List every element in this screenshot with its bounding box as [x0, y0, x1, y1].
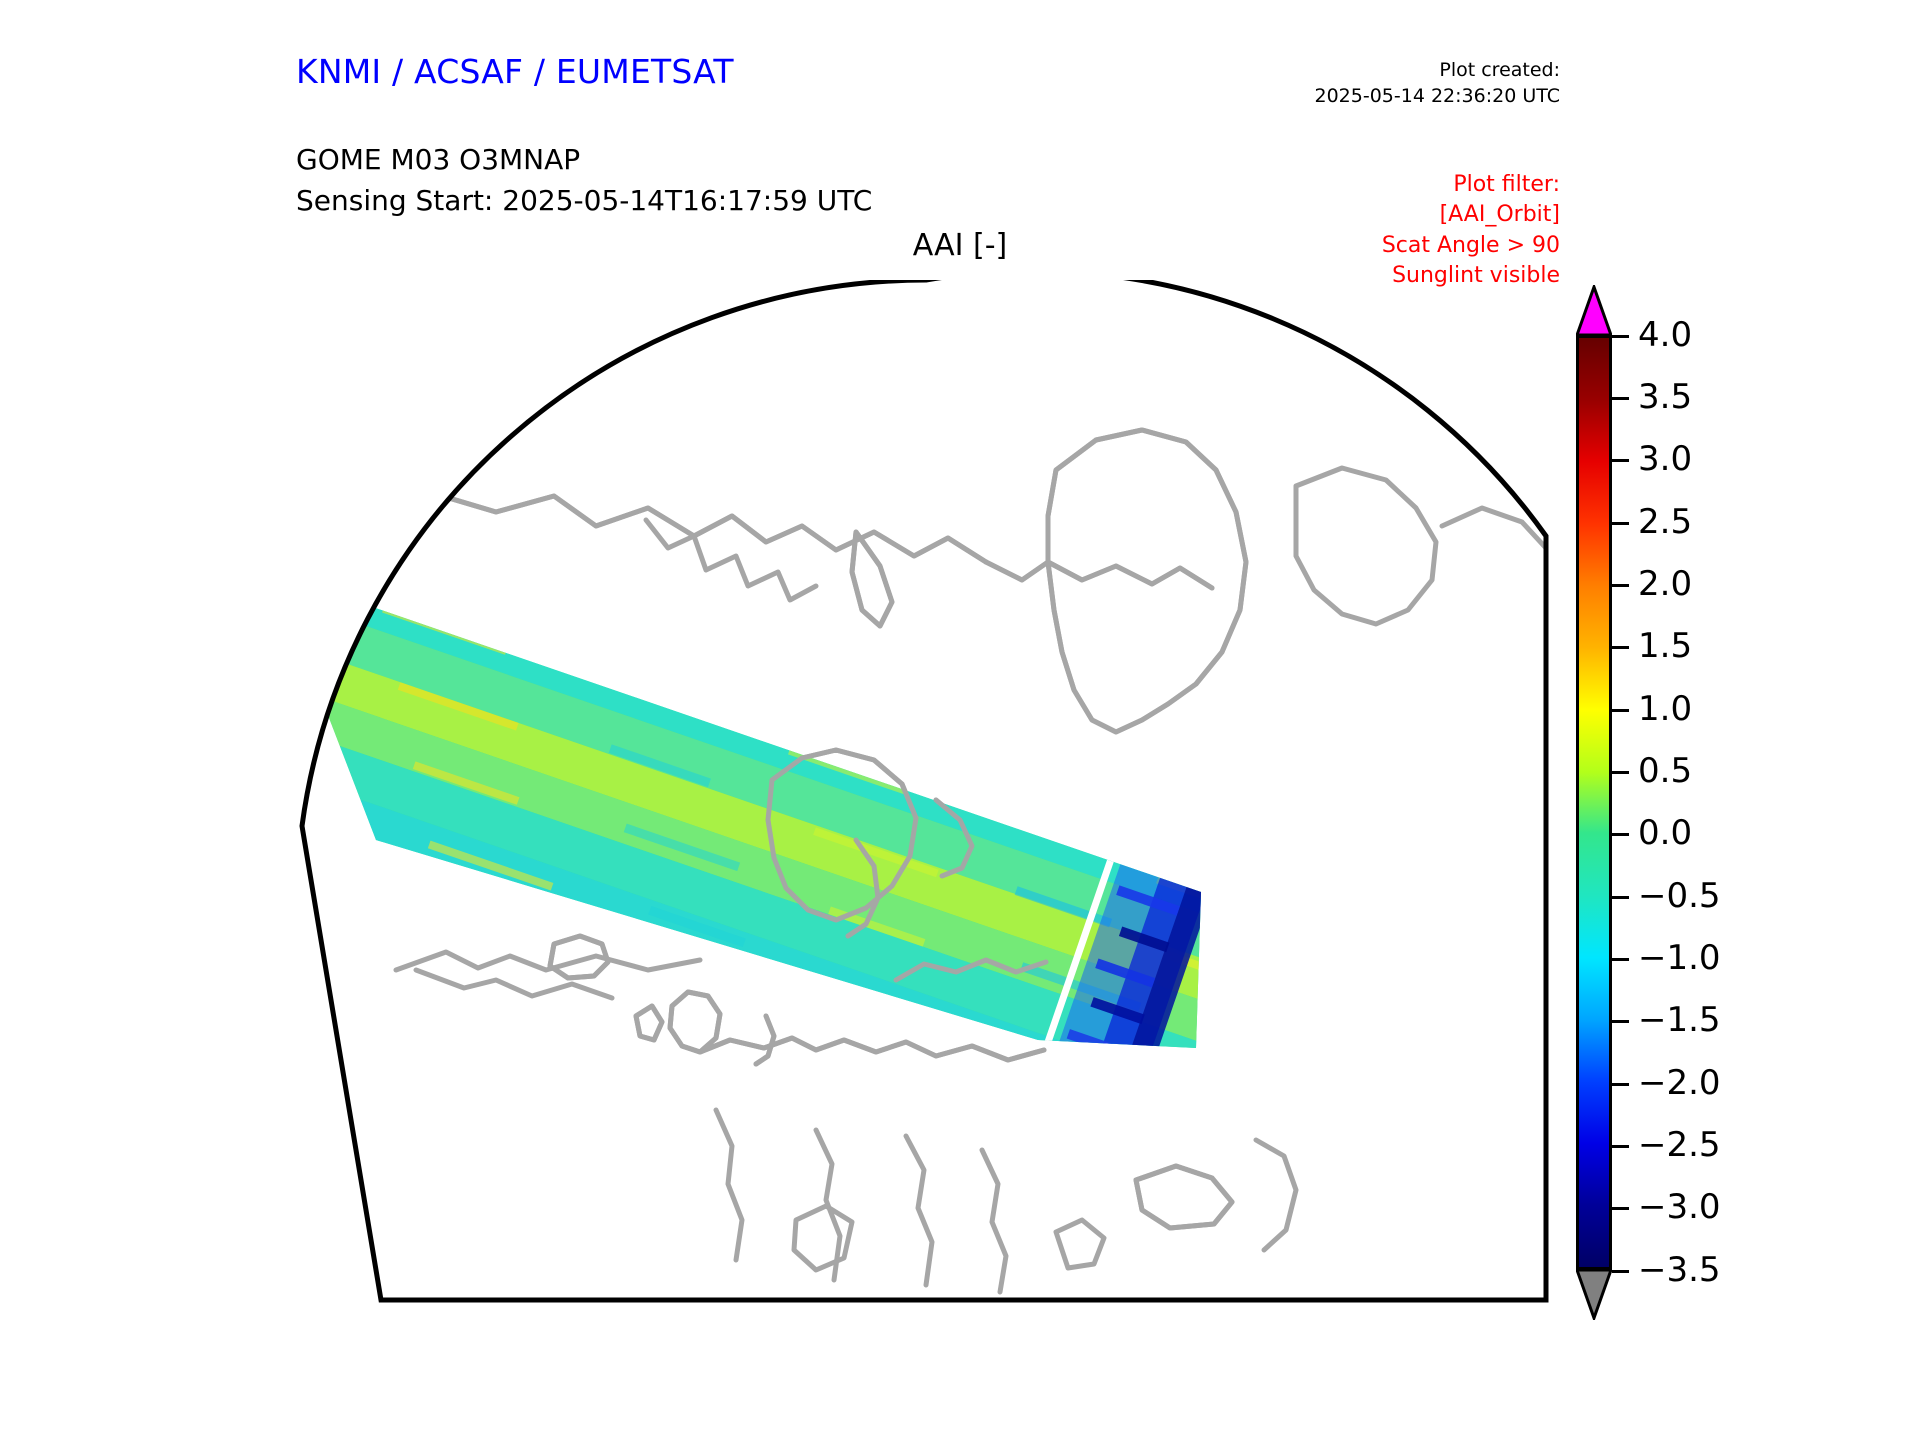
page-title: AAI [-] [0, 228, 1920, 263]
colorbar-tick-9 [1612, 896, 1629, 899]
colorbar-over-arrow [1576, 285, 1612, 337]
plot-filter-line-0: [AAI_Orbit] [1382, 200, 1560, 230]
colorbar-label-3: 2.5 [1638, 505, 1692, 539]
colorbar-label-13: −2.5 [1638, 1128, 1721, 1162]
colorbar-label-8: 0.0 [1638, 816, 1692, 850]
plot-filter-line-1: Scat Angle > 90 [1382, 231, 1560, 261]
colorbar-tick-3 [1612, 522, 1629, 525]
plot-created-label: Plot created: [1315, 58, 1561, 84]
map-plot-area[interactable] [296, 280, 1556, 1310]
plot-filter-label: Plot filter: [1382, 170, 1560, 200]
colorbar-label-12: −2.0 [1638, 1066, 1721, 1100]
colorbar-label-15: −3.5 [1638, 1253, 1721, 1287]
colorbar-label-9: −0.5 [1638, 879, 1721, 913]
sensing-start-text: Sensing Start: 2025-05-14T16:17:59 UTC [296, 184, 872, 217]
colorbar-label-1: 3.5 [1638, 380, 1692, 414]
colorbar-gradient [1576, 335, 1612, 1270]
colorbar-label-10: −1.0 [1638, 941, 1721, 975]
map-content [296, 280, 1556, 1310]
plot-filter-block: Plot filter: [AAI_Orbit] Scat Angle > 90… [1382, 170, 1560, 291]
plot-created-value: 2025-05-14 22:36:20 UTC [1315, 84, 1561, 110]
colorbar-tick-6 [1612, 709, 1629, 712]
colorbar-label-2: 3.0 [1638, 442, 1692, 476]
colorbar-label-4: 2.0 [1638, 567, 1692, 601]
colorbar-tick-5 [1612, 646, 1629, 649]
colorbar-tick-2 [1612, 459, 1629, 462]
colorbar-label-7: 0.5 [1638, 754, 1692, 788]
colorbar-label-5: 1.5 [1638, 629, 1692, 663]
colorbar-label-6: 1.0 [1638, 692, 1692, 726]
colorbar[interactable]: 4.0 3.5 3.0 2.5 2.0 1.5 1.0 0.5 0.0 −0.5… [1576, 285, 1876, 1315]
colorbar-under-arrow [1576, 1268, 1612, 1320]
product-title: GOME M03 O3MNAP [296, 143, 580, 176]
map-canvas [296, 280, 1556, 1310]
plot-created-block: Plot created: 2025-05-14 22:36:20 UTC [1315, 58, 1561, 109]
colorbar-tick-10 [1612, 958, 1629, 961]
colorbar-tick-11 [1612, 1020, 1629, 1023]
colorbar-label-11: −1.5 [1638, 1003, 1721, 1037]
colorbar-tick-0 [1612, 335, 1629, 338]
organisation-title: KNMI / ACSAF / EUMETSAT [296, 52, 734, 91]
colorbar-tick-15 [1612, 1270, 1629, 1273]
colorbar-tick-12 [1612, 1083, 1629, 1086]
colorbar-tick-14 [1612, 1207, 1629, 1210]
colorbar-label-0: 4.0 [1638, 318, 1692, 352]
colorbar-label-14: −3.0 [1638, 1190, 1721, 1224]
colorbar-tick-8 [1612, 833, 1629, 836]
colorbar-tick-7 [1612, 771, 1629, 774]
colorbar-tick-13 [1612, 1145, 1629, 1148]
colorbar-tick-1 [1612, 397, 1629, 400]
colorbar-tick-4 [1612, 584, 1629, 587]
